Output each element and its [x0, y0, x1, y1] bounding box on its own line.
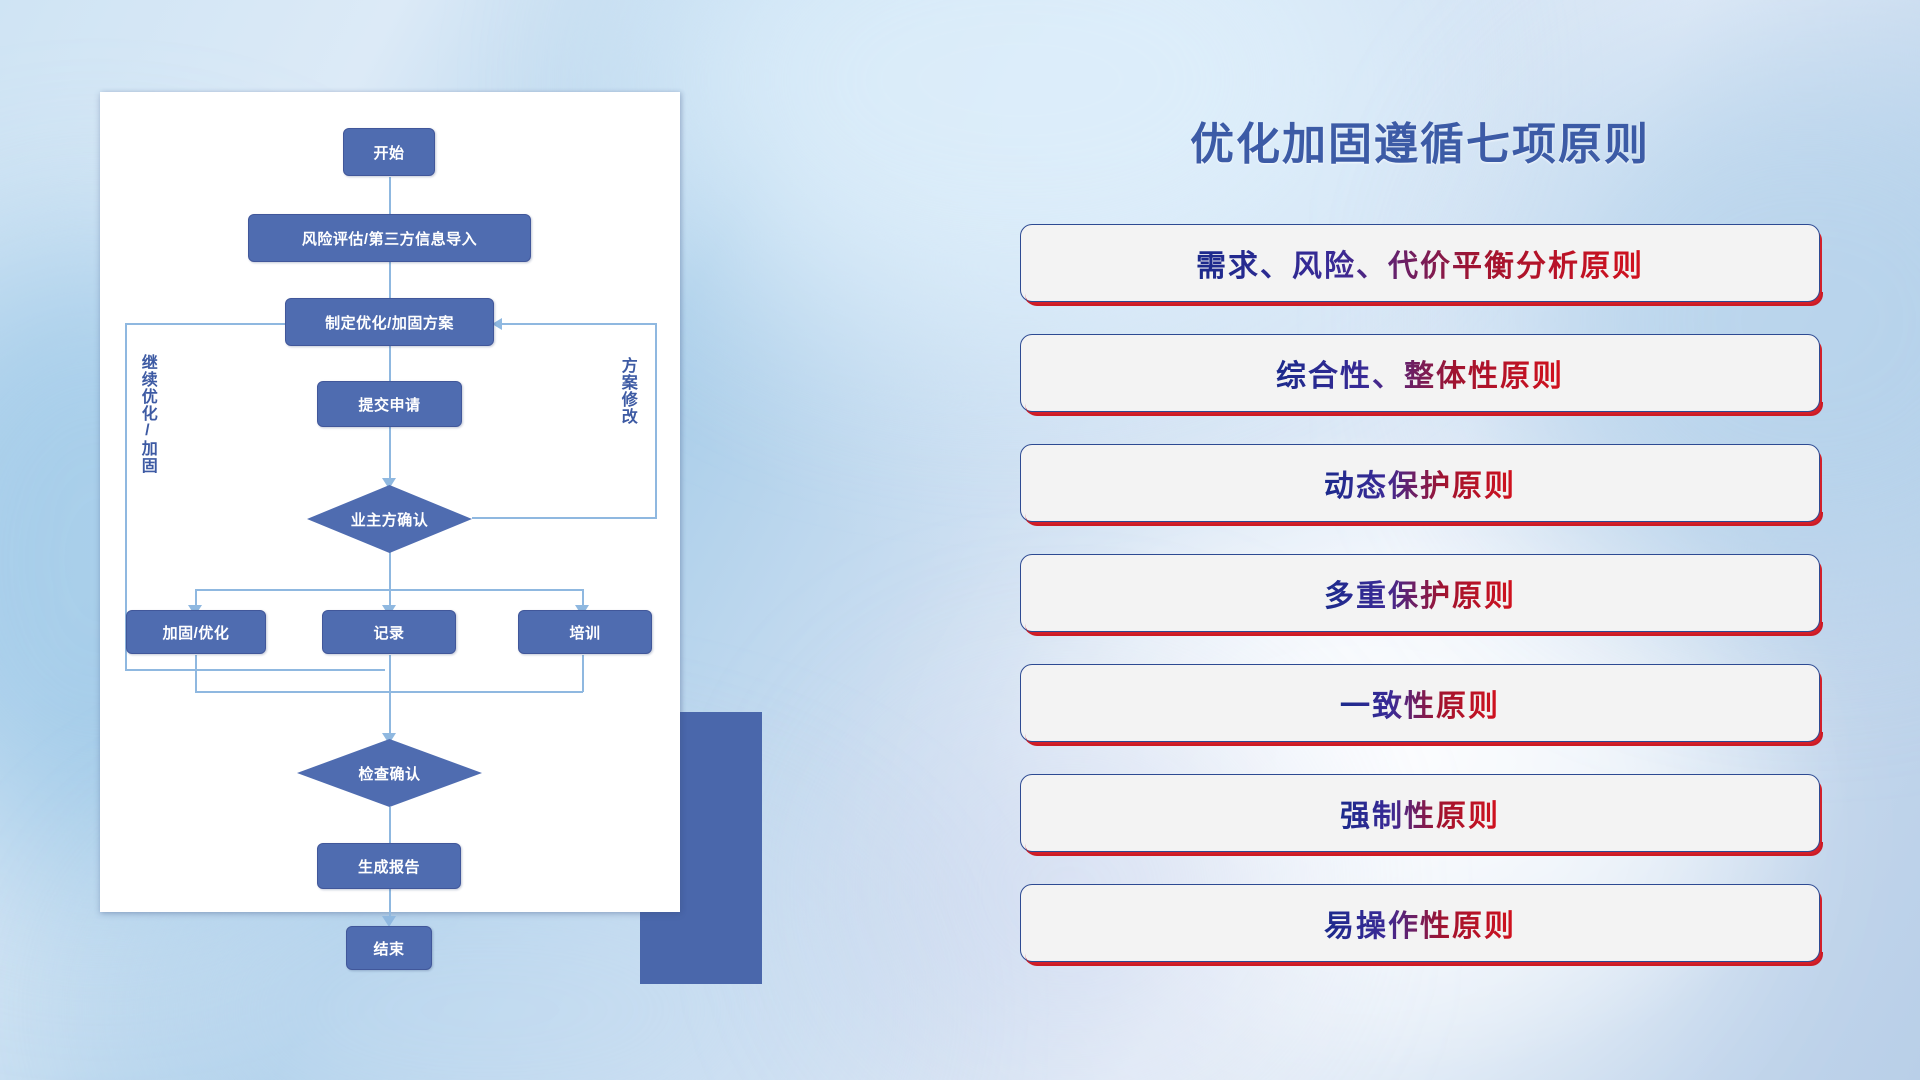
connector-line	[125, 323, 290, 325]
principles-region: 优化加固遵循七项原则 需求、风险、代价平衡分析原则 综合性、整体性原则 动态保护…	[1020, 100, 1820, 1000]
connector-line	[195, 655, 197, 692]
connector-line	[125, 669, 385, 671]
connector-line	[389, 427, 391, 482]
flow-node-label: 业主方确认	[351, 509, 429, 530]
flow-node-label: 记录	[373, 622, 404, 643]
flow-node-start[interactable]: 开始	[343, 128, 435, 176]
flow-node-end[interactable]: 结束	[346, 926, 432, 970]
flow-node-label: 加固/优化	[163, 622, 230, 643]
flow-node-label: 检查确认	[358, 763, 420, 784]
flow-node-label: 结束	[373, 938, 404, 959]
flow-node-label: 制定优化/加固方案	[325, 312, 454, 333]
flow-node-training[interactable]: 培训	[518, 610, 652, 654]
connector-line	[472, 517, 657, 519]
flow-node-label: 培训	[569, 622, 600, 643]
slide-canvas: 开始 风险评估/第三方信息导入 制定优化/加固方案 提交申请 业主方确认 加固/…	[0, 0, 1920, 1080]
flow-node-label: 开始	[373, 142, 404, 163]
page-title: 优化加固遵循七项原则	[1020, 108, 1820, 172]
flowchart-region: 开始 风险评估/第三方信息导入 制定优化/加固方案 提交申请 业主方确认 加固/…	[100, 92, 800, 992]
flow-node-risk-assessment[interactable]: 风险评估/第三方信息导入	[248, 214, 531, 262]
connector-line	[195, 589, 583, 591]
principles-list: 需求、风险、代价平衡分析原则 综合性、整体性原则 动态保护原则 多重保护原则 一…	[1020, 224, 1820, 994]
flow-node-reinforce-optimize[interactable]: 加固/优化	[126, 610, 266, 654]
flowchart-panel: 开始 风险评估/第三方信息导入 制定优化/加固方案 提交申请 业主方确认 加固/…	[100, 92, 680, 912]
flow-node-make-plan[interactable]: 制定优化/加固方案	[285, 298, 494, 346]
connector-line	[500, 323, 657, 325]
connector-line	[655, 323, 657, 519]
principle-card[interactable]: 一致性原则	[1020, 664, 1820, 742]
principle-card[interactable]: 多重保护原则	[1020, 554, 1820, 632]
principle-label: 一致性原则	[1340, 681, 1500, 725]
flow-node-label: 风险评估/第三方信息导入	[302, 228, 477, 249]
edge-label-left-loop: 继续优化/加固	[138, 354, 155, 474]
principle-card[interactable]: 动态保护原则	[1020, 444, 1820, 522]
principle-label: 综合性、整体性原则	[1276, 351, 1564, 395]
flow-node-label: 提交申请	[358, 394, 420, 415]
edge-label-right-loop: 方案修改	[618, 357, 635, 425]
flow-node-check-confirm[interactable]: 检查确认	[297, 739, 482, 807]
principle-label: 动态保护原则	[1324, 461, 1516, 505]
connector-line	[389, 655, 391, 738]
connector-line	[389, 552, 391, 610]
principle-label: 多重保护原则	[1324, 571, 1516, 615]
flow-node-generate-report[interactable]: 生成报告	[317, 843, 461, 889]
principle-card[interactable]: 综合性、整体性原则	[1020, 334, 1820, 412]
flow-node-owner-confirm[interactable]: 业主方确认	[307, 485, 472, 553]
flow-node-label: 生成报告	[358, 856, 420, 877]
principle-label: 强制性原则	[1340, 791, 1500, 835]
flow-node-record[interactable]: 记录	[322, 610, 456, 654]
flow-node-submit-application[interactable]: 提交申请	[317, 381, 462, 427]
principle-label: 需求、风险、代价平衡分析原则	[1196, 241, 1644, 285]
principle-card[interactable]: 需求、风险、代价平衡分析原则	[1020, 224, 1820, 302]
principle-label: 易操作性原则	[1324, 901, 1516, 945]
principle-card[interactable]: 易操作性原则	[1020, 884, 1820, 962]
principle-card[interactable]: 强制性原则	[1020, 774, 1820, 852]
connector-line	[582, 655, 584, 692]
